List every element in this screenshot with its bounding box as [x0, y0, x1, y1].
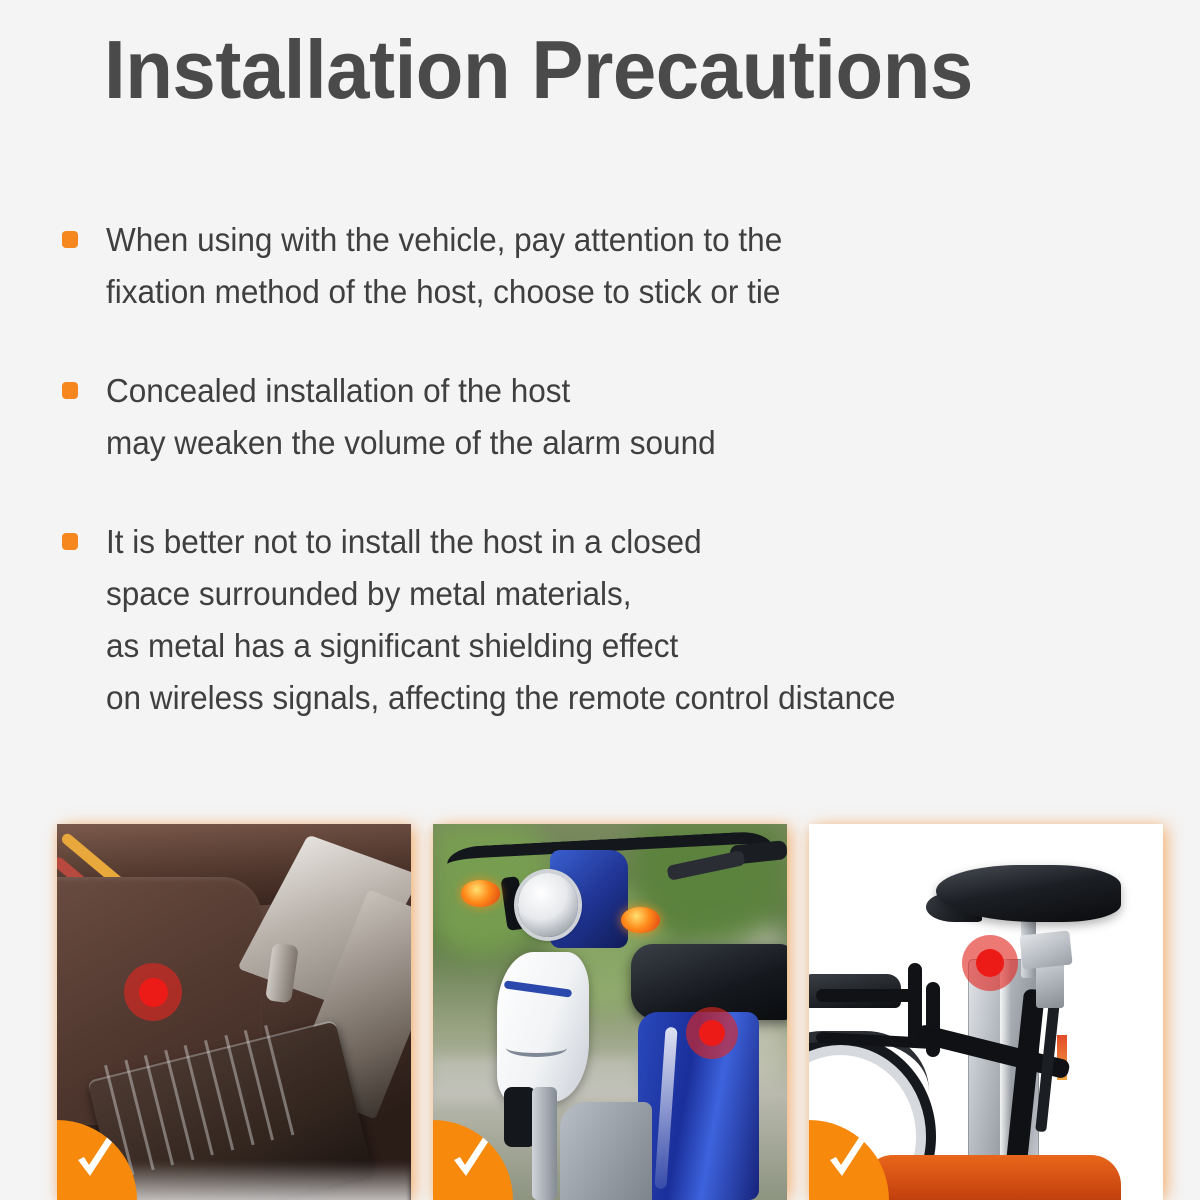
red-dot-marker [124, 963, 182, 1021]
list-item-text: When using with the vehicle, pay attenti… [106, 214, 1162, 318]
bullet-square-icon [62, 231, 78, 248]
list-item-line: space surrounded by metal materials, [106, 568, 1114, 620]
list-item-line: When using with the vehicle, pay attenti… [106, 214, 1114, 266]
precautions-page: Installation Precautions When using with… [0, 0, 1200, 1200]
list-item-line: fixation method of the host, choose to s… [106, 266, 1114, 318]
example-photo-strip [0, 824, 1200, 1200]
list-item-text: Concealed installation of the host may w… [106, 365, 1162, 469]
red-dot-marker [962, 935, 1018, 991]
list-item-line: as metal has a significant shielding eff… [106, 620, 1114, 672]
check-icon [74, 1134, 120, 1184]
check-icon [826, 1134, 872, 1184]
list-item: It is better not to install the host in … [62, 516, 1162, 724]
red-dot-marker [686, 1007, 738, 1059]
list-item-line: Concealed installation of the host [106, 365, 1114, 417]
list-item-line: on wireless signals, affecting the remot… [106, 672, 1114, 724]
list-item: Concealed installation of the host may w… [62, 365, 1162, 469]
list-item: When using with the vehicle, pay attenti… [62, 214, 1162, 318]
bullet-square-icon [62, 382, 78, 399]
check-icon [450, 1134, 496, 1184]
list-item-text: It is better not to install the host in … [106, 516, 1162, 724]
page-title: Installation Precautions [104, 28, 973, 111]
bullet-square-icon [62, 533, 78, 550]
list-item-line: It is better not to install the host in … [106, 516, 1114, 568]
precautions-list: When using with the vehicle, pay attenti… [62, 214, 1162, 724]
list-item-line: may weaken the volume of the alarm sound [106, 417, 1114, 469]
